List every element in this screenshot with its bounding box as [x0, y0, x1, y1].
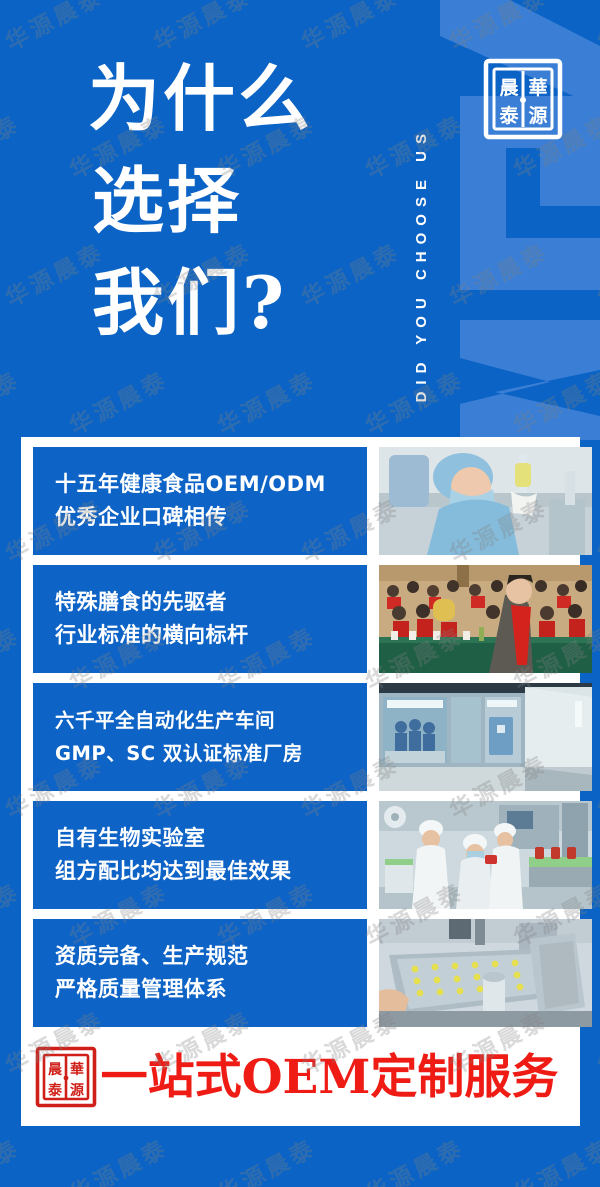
feature-line: 组方配比均达到最佳效果 [55, 855, 345, 888]
svg-text:華: 華 [528, 76, 547, 99]
feature-card-text: 特殊膳食的先驱者 行业标准的横向标杆 [33, 565, 367, 673]
feature-line: 行业标准的横向标杆 [55, 619, 345, 652]
svg-text:泰: 泰 [498, 104, 519, 127]
page-title: 为什么 选择 我们? [88, 48, 388, 354]
blister-packaging-photo [379, 919, 592, 1027]
feature-card-text: 资质完备、生产规范 严格质量管理体系 [33, 919, 367, 1027]
feature-line: 自有生物实验室 [55, 822, 345, 855]
feature-card-text: 六千平全自动化生产车间 GMP、SC 双认证标准厂房 [33, 683, 367, 791]
title-line-1: 为什么 [88, 48, 388, 150]
feature-line: 特殊膳食的先驱者 [55, 586, 345, 619]
title-line-2: 选择 [88, 150, 388, 252]
vertical-tagline-text: DID YOU CHOOSE US [413, 127, 430, 402]
footer-seal-icon: 晨 華 泰 源 [35, 1046, 97, 1108]
feature-line: GMP、SC 双认证标准厂房 [55, 737, 345, 770]
feature-card[interactable]: 十五年健康食品OEM/ODM 优秀企业口碑相传 [33, 447, 568, 555]
svg-text:晨: 晨 [499, 77, 519, 99]
feature-line: 优秀企业口碑相传 [55, 501, 345, 534]
svg-text:華: 華 [70, 1061, 84, 1078]
production-line-staff-photo [379, 801, 592, 909]
feature-card-list: 十五年健康食品OEM/ODM 优秀企业口碑相传 [33, 447, 568, 1037]
feature-line: 六千平全自动化生产车间 [55, 704, 345, 737]
watermark-text: 华源晨泰 [0, 1129, 26, 1187]
watermark-text: 华源晨泰 [210, 1129, 321, 1187]
feature-line: 资质完备、生产规范 [55, 940, 345, 973]
feature-card[interactable]: 六千平全自动化生产车间 GMP、SC 双认证标准厂房 [33, 683, 568, 791]
svg-text:源: 源 [528, 104, 547, 127]
cleanroom-corridor-photo [379, 683, 592, 791]
feature-card-text: 十五年健康食品OEM/ODM 优秀企业口碑相传 [33, 447, 367, 555]
brand-seal-icon: 晨 華 泰 源 [482, 56, 564, 142]
poster-root: 为什么 选择 我们? DID YOU CHOOSE US 晨 華 泰 源 [0, 0, 600, 1187]
watermark-text: 华源晨泰 [506, 1129, 600, 1187]
watermark-text: 华源晨泰 [358, 1129, 469, 1187]
svg-text:源: 源 [70, 1082, 84, 1099]
feature-card-text: 自有生物实验室 组方配比均达到最佳效果 [33, 801, 367, 909]
svg-text:晨: 晨 [48, 1062, 63, 1078]
feature-line: 十五年健康食品OEM/ODM [55, 468, 345, 501]
svg-text:泰: 泰 [47, 1082, 63, 1099]
footer-banner[interactable]: 晨 華 泰 源 一站式OEM定制服务 [33, 1042, 568, 1112]
feature-panel: 十五年健康食品OEM/ODM 优秀企业口碑相传 [21, 437, 580, 1126]
title-line-3: 我们? [88, 252, 388, 354]
feature-card[interactable]: 特殊膳食的先驱者 行业标准的横向标杆 [33, 565, 568, 673]
conference-audience-photo [379, 565, 592, 673]
watermark-text: 华源晨泰 [62, 1129, 173, 1187]
feature-card[interactable]: 资质完备、生产规范 严格质量管理体系 [33, 919, 568, 1027]
poster-header: 为什么 选择 我们? DID YOU CHOOSE US 晨 華 泰 源 [0, 0, 600, 437]
feature-card[interactable]: 自有生物实验室 组方配比均达到最佳效果 [33, 801, 568, 909]
vertical-tagline: DID YOU CHOOSE US [404, 12, 438, 402]
feature-line: 严格质量管理体系 [55, 973, 345, 1006]
footer-headline: 一站式OEM定制服务 [97, 1054, 568, 1101]
lab-technician-photo [379, 447, 592, 555]
